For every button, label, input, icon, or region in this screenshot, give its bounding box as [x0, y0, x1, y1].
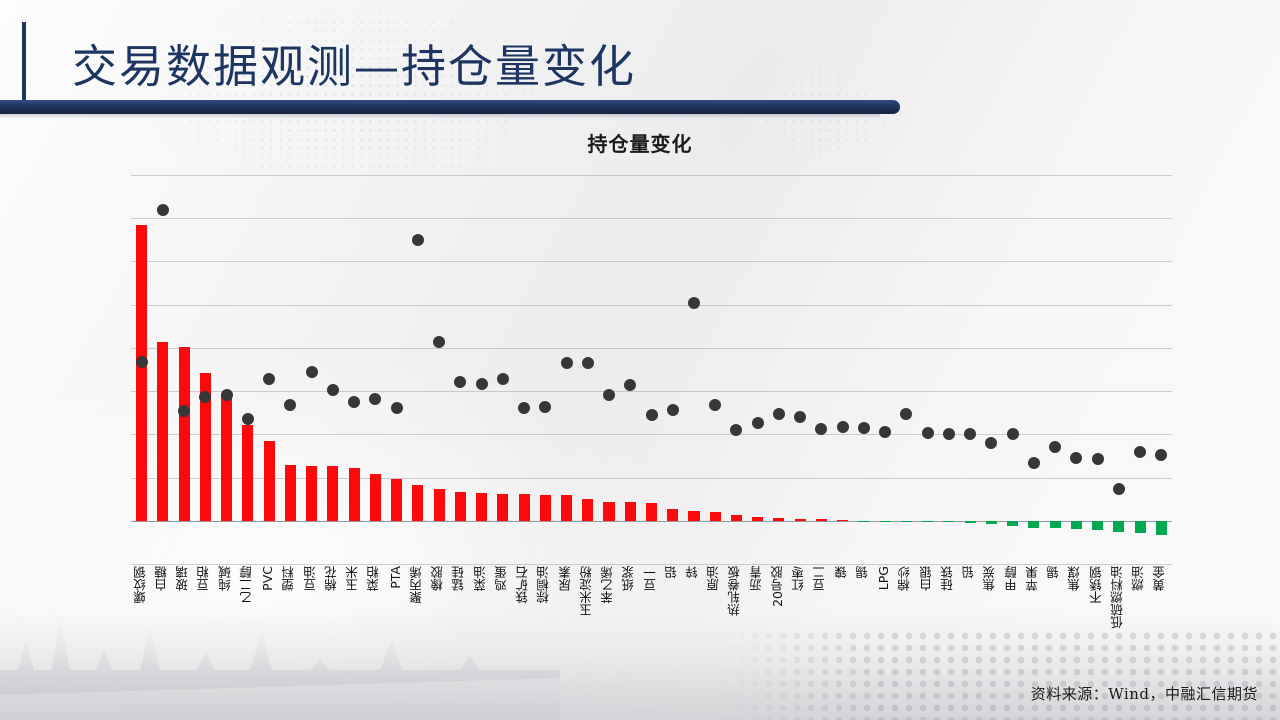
x-axis-category-label: 铅 — [963, 566, 976, 579]
chart-plot-area: 160,000140,000120,000100,00080,00060,000… — [131, 175, 1172, 564]
chart-bar — [943, 521, 954, 523]
chart-bar — [731, 515, 742, 520]
x-axis-category-label: 红枣 — [793, 566, 806, 591]
chart-scatter-point — [1155, 449, 1167, 461]
slide-canvas: 交易数据观测—持仓量变化 持仓量变化 160,000140,000120,000… — [0, 0, 1280, 720]
x-axis-category-label: 棉纱 — [899, 566, 912, 591]
x-axis-category-label: 铝 — [666, 566, 679, 579]
chart-scatter-point — [327, 384, 339, 396]
chart-scatter-point — [454, 376, 466, 388]
x-axis-category-label: 铁矿石 — [517, 566, 530, 604]
chart-scatter-point — [582, 357, 594, 369]
x-axis-category-label: 硅铁 — [942, 566, 955, 591]
chart-scatter-point — [1070, 452, 1082, 464]
x-axis-category-label: 菜油 — [475, 566, 488, 591]
chart-bar — [603, 502, 614, 520]
chart-bar — [1028, 521, 1039, 528]
chart-scatter-point — [136, 356, 148, 368]
chart-scatter-point — [348, 396, 360, 408]
chart-bar — [837, 520, 848, 522]
chart-bar — [1050, 521, 1061, 528]
x-axis-category-label: 玻璃 — [177, 566, 190, 591]
chart-bar — [370, 474, 381, 520]
x-axis-category-label: 镍 — [836, 566, 849, 579]
x-axis-category-label: 焦炭 — [984, 566, 997, 591]
chart-bar — [752, 517, 763, 520]
x-axis-category-label: 20号胶 — [772, 566, 785, 607]
chart-bar — [242, 425, 253, 521]
chart-scatter-point — [518, 402, 530, 414]
x-axis-category-label: 沥青 — [751, 566, 764, 591]
chart-bar — [540, 495, 551, 521]
chart-bar — [986, 521, 997, 524]
chart-bar — [880, 521, 891, 523]
chart-scatter-point — [646, 409, 658, 421]
chart-bar — [1092, 521, 1103, 530]
chart-bar — [476, 493, 487, 521]
x-axis-category-label: 白糖 — [156, 566, 169, 591]
chart-bar — [922, 521, 933, 523]
chart-scatter-point — [858, 422, 870, 434]
chart-bar — [773, 518, 784, 521]
x-axis-category-label: 苹果 — [1027, 566, 1040, 591]
chart-scatter-point — [306, 366, 318, 378]
chart-scatter-point — [1134, 446, 1146, 458]
x-axis-category-label: 塑料 — [283, 566, 296, 591]
gridline — [131, 261, 1172, 262]
chart-bar — [136, 225, 147, 521]
chart-bar — [221, 394, 232, 520]
x-axis-category-label: 豆油 — [305, 566, 318, 591]
chart-scatter-point — [199, 391, 211, 403]
chart-title: 持仓量变化 — [0, 128, 1280, 157]
chart-scatter-point — [900, 408, 912, 420]
chart-bar — [412, 485, 423, 521]
chart-scatter-point — [263, 373, 275, 385]
page-title: 交易数据观测—持仓量变化 — [72, 32, 852, 102]
chart-scatter-point — [815, 423, 827, 435]
chart-scatter-point — [242, 413, 254, 425]
chart-bar — [901, 521, 912, 523]
gridline — [131, 305, 1172, 306]
chart-scatter-point — [1113, 483, 1125, 495]
gridline — [131, 218, 1172, 219]
x-axis-category-label: 玉米淀粉 — [581, 566, 594, 616]
x-axis-category-label: 苯乙烯 — [602, 566, 615, 604]
chart-scatter-point — [985, 437, 997, 449]
chart-scatter-point — [476, 378, 488, 390]
x-axis-category-label: 乙二醇 — [241, 566, 254, 604]
chart-scatter-point — [539, 401, 551, 413]
chart-scatter-point — [794, 411, 806, 423]
x-axis-category-label: 豆二 — [814, 566, 827, 591]
chart-bar — [1071, 521, 1082, 529]
x-axis-category-label: 不锈钢 — [1091, 566, 1104, 604]
x-axis-category-label: 橡胶 — [432, 566, 445, 591]
x-axis-category-label: 玉米 — [347, 566, 360, 591]
chart-bar — [157, 342, 168, 520]
x-axis-category-label: 黄金 — [1154, 566, 1167, 591]
chart-bar — [710, 512, 721, 521]
title-underline-bar — [0, 100, 900, 114]
chart-scatter-point — [667, 404, 679, 416]
chart-bar — [391, 479, 402, 521]
chart-scatter-point — [1028, 457, 1040, 469]
x-axis-category-label: 纸浆 — [623, 566, 636, 591]
x-axis-category-label: 焦煤 — [1069, 566, 1082, 591]
x-axis-category-label: 白银 — [921, 566, 934, 591]
x-axis-category-label: 棕榈油 — [538, 566, 551, 604]
x-axis-category-label: 热轧卷板 — [729, 566, 742, 616]
x-axis-category-label: 甲醇 — [1006, 566, 1019, 591]
chart-bar — [285, 465, 296, 521]
chart-scatter-point — [752, 417, 764, 429]
x-axis-category-label: 豆一 — [645, 566, 658, 591]
source-note: 资料来源：Wind，中融汇信期货 — [1031, 683, 1258, 704]
chart-scatter-point — [837, 421, 849, 433]
x-axis-category-label: LPG — [878, 566, 891, 590]
chart-bar — [1113, 521, 1124, 532]
chart-scatter-point — [391, 402, 403, 414]
header-left-rule — [22, 22, 26, 108]
chart-bar — [349, 468, 360, 521]
chart-bar — [965, 521, 976, 524]
chart-bar — [1135, 521, 1146, 534]
gridline — [131, 175, 1172, 176]
chart-bar — [646, 503, 657, 520]
chart-bar — [497, 494, 508, 521]
gridline — [131, 348, 1172, 349]
x-axis-category-label: 锡 — [1048, 566, 1061, 579]
chart-bar — [327, 466, 338, 521]
chart-bar — [625, 502, 636, 520]
chart-scatter-point — [221, 389, 233, 401]
x-axis-category-label: 棉花 — [326, 566, 339, 591]
chart-bar — [858, 521, 869, 523]
chart-bar — [179, 347, 190, 521]
chart-scatter-point — [1092, 453, 1104, 465]
chart-bar — [667, 509, 678, 521]
chart-scatter-point — [412, 234, 424, 246]
gridline — [131, 391, 1172, 392]
chart-bar — [688, 511, 699, 521]
chart-scatter-point — [922, 427, 934, 439]
gridline — [131, 564, 1172, 565]
chart-bar — [519, 494, 530, 521]
chart-scatter-point — [688, 297, 700, 309]
chart-bar — [582, 499, 593, 521]
x-axis-category-label: PTA — [390, 566, 403, 589]
x-axis-category-label: 锡 — [857, 566, 870, 579]
x-axis-category-label: 菜粕 — [368, 566, 381, 591]
chart-scatter-point — [773, 408, 785, 420]
x-axis-category-label: PVC — [262, 566, 275, 591]
x-axis-category-label: 聚丙烯 — [411, 566, 424, 604]
chart-scatter-point — [603, 389, 615, 401]
chart-scatter-point — [879, 426, 891, 438]
x-axis-category-label: 鸡蛋 — [496, 566, 509, 591]
chart-scatter-point — [943, 428, 955, 440]
chart-scatter-point — [369, 393, 381, 405]
chart-scatter-point — [178, 405, 190, 417]
chart-bar — [1007, 521, 1018, 526]
x-axis-category-label: 锰硅 — [453, 566, 466, 591]
chart-scatter-point — [1049, 441, 1061, 453]
chart-scatter-point — [709, 399, 721, 411]
x-axis-category-label: 螺纹钢 — [135, 566, 148, 604]
chart-bar — [816, 519, 827, 521]
chart-scatter-point — [624, 379, 636, 391]
chart-scatter-point — [561, 357, 573, 369]
chart-scatter-point — [284, 399, 296, 411]
chart-scatter-point — [964, 428, 976, 440]
x-axis-category-label: 锌 — [687, 566, 700, 579]
x-axis-category-label: 低硫燃料油 — [1112, 566, 1125, 629]
chart-scatter-point — [497, 373, 509, 385]
chart-bar — [561, 495, 572, 521]
chart-scatter-point — [1007, 428, 1019, 440]
title-underline-shadow — [0, 114, 880, 119]
chart-scatter-point — [157, 204, 169, 216]
x-axis-category-label: 豆粕 — [198, 566, 211, 591]
chart-bar — [795, 519, 806, 521]
chart-bar — [264, 441, 275, 521]
chart-bar — [434, 489, 445, 520]
x-axis-category-label: 燃油 — [1133, 566, 1146, 591]
x-axis-category-label: 纯碱 — [220, 566, 233, 591]
x-axis-category-label: 尿素 — [560, 566, 573, 591]
chart-x-axis-labels: 螺纹钢白糖玻璃豆粕纯碱乙二醇PVC塑料豆油棉花玉米菜粕PTA聚丙烯橡胶锰硅菜油鸡… — [131, 566, 1172, 706]
x-axis-category-label: 原油 — [708, 566, 721, 591]
chart-bar — [306, 466, 317, 521]
chart-scatter-point — [433, 336, 445, 348]
chart-bar — [455, 492, 466, 521]
chart-bar — [1156, 521, 1167, 535]
